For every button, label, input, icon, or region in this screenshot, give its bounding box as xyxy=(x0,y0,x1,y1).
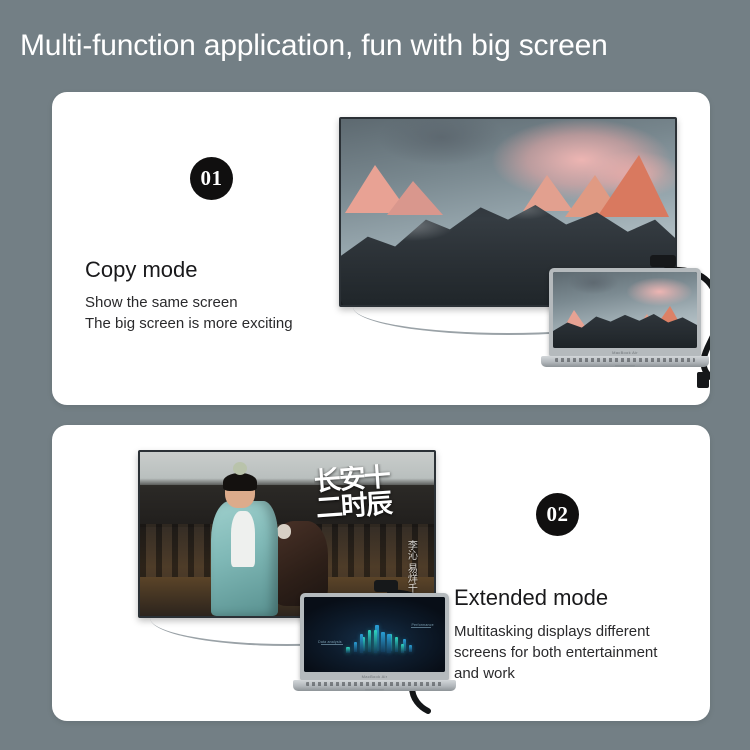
laptop-front-notch xyxy=(615,365,635,367)
chart-bar xyxy=(346,647,349,653)
laptop-keyboard xyxy=(555,358,695,362)
cable-plug-laptop-1 xyxy=(697,372,709,388)
page-title: Multi-function application, fun with big… xyxy=(20,26,735,66)
chart-leader-right xyxy=(411,627,431,628)
feature-card-extended-mode: 02 Extended mode Multitasking displays d… xyxy=(52,425,710,721)
description-line-2: screens for both entertainment xyxy=(454,642,704,663)
mode-title-copy: Copy mode xyxy=(85,257,198,283)
step-badge-01: 01 xyxy=(190,157,233,200)
chart-bar xyxy=(368,630,371,652)
laptop-brand-label: MacBook Air xyxy=(300,674,449,679)
chart-bar xyxy=(401,644,404,653)
laptop-keyboard xyxy=(306,682,444,686)
chart-bar xyxy=(374,630,377,653)
drama-actor-hair xyxy=(223,473,257,491)
feature-card-copy-mode: 01 Copy mode Show the same screen The bi… xyxy=(52,92,710,405)
laptop-lid: Data analysis Performance MacBook Air xyxy=(300,593,449,680)
laptop-chart: Data analysis Performance MacBook Air xyxy=(300,593,449,691)
chart-bar xyxy=(395,637,398,651)
mountain-peak-pink-right xyxy=(597,155,669,217)
drama-actor-hair-bun xyxy=(233,462,248,475)
chart-label-right: Performance xyxy=(411,623,433,627)
laptop-brand-label: MacBook Air xyxy=(549,350,701,355)
laptop-base xyxy=(541,356,708,367)
laptop-screen-mountain xyxy=(553,272,697,348)
step-badge-02: 02 xyxy=(536,493,579,536)
description-line-1: Show the same screen xyxy=(85,292,355,313)
laptop-base xyxy=(293,680,457,691)
description-line-2: The big screen is more exciting xyxy=(85,313,355,334)
drama-actor-inner-robe xyxy=(231,511,255,567)
mode-description-copy: Show the same screen The big screen is m… xyxy=(85,292,355,334)
chart-label-left: Data analysis xyxy=(318,640,342,644)
laptop-lid: MacBook Air xyxy=(549,268,701,356)
chart-bar xyxy=(387,634,390,653)
chart-bar xyxy=(409,645,412,651)
mode-description-extended: Multitasking displays different screens … xyxy=(454,621,704,684)
mountain-peak-pink-left-2 xyxy=(387,181,443,215)
description-line-1: Multitasking displays different xyxy=(454,621,704,642)
mode-title-extended: Extended mode xyxy=(454,585,608,611)
laptop-mirrored: MacBook Air xyxy=(549,268,701,367)
laptop-front-notch xyxy=(365,689,385,691)
cable-plug-tv-2 xyxy=(374,580,398,592)
description-line-3: and work xyxy=(454,663,704,684)
drama-horse-blaze xyxy=(277,524,292,539)
cable-plug-tv-1 xyxy=(650,255,676,267)
chart-bar xyxy=(354,642,357,651)
chart-bar xyxy=(381,632,384,652)
chart-bar xyxy=(360,634,363,652)
laptop-screen-chart: Data analysis Performance xyxy=(304,597,445,672)
